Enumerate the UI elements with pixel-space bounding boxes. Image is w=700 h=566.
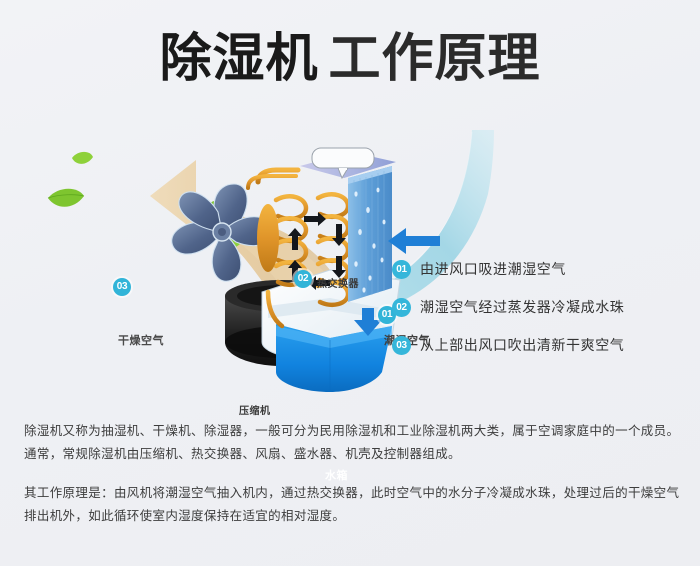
paragraph-1: 除湿机又称为抽湿机、干燥机、除湿器，一般可分为民用除湿机和工业除湿机两大类，属于… bbox=[24, 420, 680, 466]
list-item: 02 潮湿空气经过蒸发器冷凝成水珠 bbox=[392, 296, 692, 318]
step-list: 01 由进风口吸进潮湿空气 02 潮湿空气经过蒸发器冷凝成水珠 03 从上部出风… bbox=[392, 258, 692, 372]
accumulator-cylinder bbox=[257, 204, 279, 272]
label-heat-exchanger: 热交换器 bbox=[317, 275, 359, 290]
title-part-2: 工作原理 bbox=[329, 30, 541, 88]
page-title: 除湿机工作原理 bbox=[0, 28, 700, 90]
paragraph-2: 其工作原理是：由风机将潮湿空气抽入机内，通过热交换器，此时空气中的水分子冷凝成水… bbox=[24, 482, 680, 528]
step-badge: 01 bbox=[392, 260, 411, 279]
label-dry-air: 干燥空气 bbox=[118, 332, 164, 348]
list-item: 03 从上部出风口吹出清新干爽空气 bbox=[392, 334, 692, 356]
page-root: 除湿机工作原理 bbox=[0, 0, 700, 566]
diagram-badge-02: 02 bbox=[294, 270, 312, 288]
diagram-badge-03: 03 bbox=[113, 278, 131, 296]
step-badge: 02 bbox=[392, 298, 411, 317]
label-compressor: 压缩机 bbox=[239, 402, 271, 417]
title-part-1: 除湿机 bbox=[159, 30, 318, 88]
step-text: 从上部出风口吹出清新干爽空气 bbox=[420, 335, 624, 355]
step-text: 潮湿空气经过蒸发器冷凝成水珠 bbox=[420, 297, 624, 317]
step-text: 由进风口吸进潮湿空气 bbox=[420, 259, 566, 279]
body-copy: 除湿机又称为抽湿机、干燥机、除湿器，一般可分为民用除湿机和工业除湿机两大类，属于… bbox=[24, 420, 680, 528]
step-badge: 03 bbox=[392, 336, 411, 355]
list-item: 01 由进风口吸进潮湿空气 bbox=[392, 258, 692, 280]
